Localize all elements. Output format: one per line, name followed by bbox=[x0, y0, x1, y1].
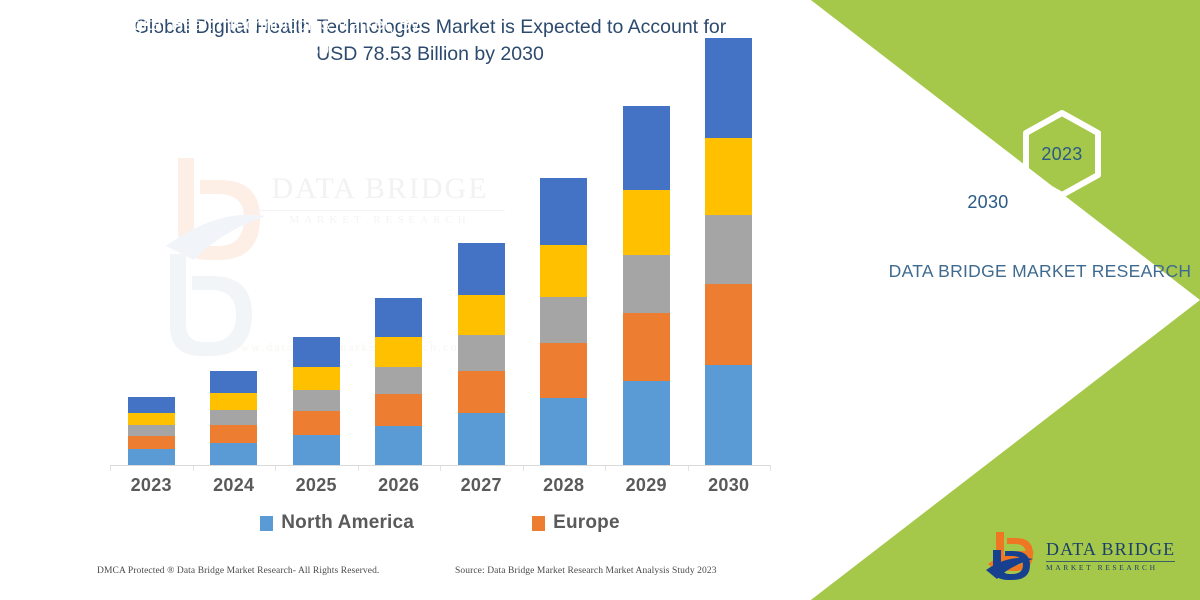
x-tick-label-2029: 2029 bbox=[605, 475, 687, 496]
legend-swatch-icon bbox=[532, 516, 545, 531]
panel-brand-text: DATA BRIDGE MARKET RESEARCH bbox=[880, 258, 1200, 285]
stacked-bar bbox=[705, 38, 752, 465]
bar-segment-north-america bbox=[623, 381, 670, 465]
bar-segment-north-america bbox=[375, 426, 422, 465]
stacked-bar bbox=[540, 178, 587, 465]
logo-line2: MARKET RESEARCH bbox=[1046, 564, 1175, 572]
bar-segment-north-america bbox=[128, 449, 175, 465]
bar-segment-north-america bbox=[293, 435, 340, 465]
bar-segment-middle-east-and-africa bbox=[128, 397, 175, 413]
chart-legend: North AmericaEurope bbox=[110, 512, 770, 534]
footer-copyright: DMCA Protected ® Data Bridge Market Rese… bbox=[97, 566, 379, 576]
bar-segment-north-america bbox=[458, 413, 505, 465]
bar-segment-middle-east-and-africa bbox=[293, 337, 340, 367]
green-side-panel bbox=[770, 0, 1200, 600]
bar-segment-europe bbox=[210, 425, 257, 443]
bar-segment-asia-pacific bbox=[210, 410, 257, 425]
legend-swatch-icon bbox=[260, 516, 273, 531]
x-tick-label-2023: 2023 bbox=[110, 475, 192, 496]
bar-segment-europe bbox=[705, 284, 752, 365]
bar-segment-north-america bbox=[540, 398, 587, 465]
bar-segment-middle-east-and-africa bbox=[375, 298, 422, 337]
databridge-logo: DATA BRIDGE MARKET RESEARCH bbox=[985, 530, 1175, 582]
stacked-bar bbox=[458, 243, 505, 465]
x-tick-label-2026: 2026 bbox=[358, 475, 440, 496]
x-tick-label-2027: 2027 bbox=[440, 475, 522, 496]
bar-segment-asia-pacific bbox=[705, 215, 752, 284]
legend-item-europe[interactable]: Europe bbox=[532, 512, 620, 534]
legend-item-north-america[interactable]: North America bbox=[260, 512, 414, 534]
infographic-canvas: DATA BRIDGE MARKET RESEARCH www.databrid… bbox=[0, 0, 1200, 600]
x-tick-label-2030: 2030 bbox=[688, 475, 770, 496]
stacked-bar bbox=[293, 337, 340, 465]
logo-b-icon bbox=[985, 530, 1037, 582]
hexagon-badge-2030: 2030 bbox=[940, 152, 1036, 252]
hexagon-label-2030: 2030 bbox=[967, 192, 1008, 213]
bar-segment-south-america bbox=[128, 413, 175, 425]
legend-label: Europe bbox=[553, 512, 620, 534]
bar-group-2027 bbox=[440, 140, 522, 465]
bar-segment-asia-pacific bbox=[293, 390, 340, 411]
bar-segment-south-america bbox=[458, 295, 505, 335]
bar-segment-europe bbox=[293, 411, 340, 435]
legend-label: North America bbox=[281, 512, 414, 534]
bar-segment-asia-pacific bbox=[540, 297, 587, 343]
bar-group-2026 bbox=[358, 140, 440, 465]
bar-group-2028 bbox=[523, 140, 605, 465]
x-tick-label-2024: 2024 bbox=[193, 475, 275, 496]
bar-segment-middle-east-and-africa bbox=[540, 178, 587, 245]
bar-segment-asia-pacific bbox=[375, 367, 422, 394]
footer-source: Source: Data Bridge Market Research Mark… bbox=[455, 566, 717, 576]
bar-segment-north-america bbox=[210, 443, 257, 465]
bar-segment-europe bbox=[623, 313, 670, 381]
bar-group-2030 bbox=[688, 140, 770, 465]
bar-group-2025 bbox=[275, 140, 357, 465]
databridge-logo-mark-icon bbox=[985, 530, 1037, 582]
logo-rule bbox=[1046, 561, 1175, 562]
bar-segment-middle-east-and-africa bbox=[210, 371, 257, 393]
bar-segment-europe bbox=[375, 394, 422, 426]
bar-segment-south-america bbox=[540, 245, 587, 297]
bar-segment-south-america bbox=[375, 337, 422, 367]
bar-segment-middle-east-and-africa bbox=[623, 106, 670, 190]
stacked-bar bbox=[623, 106, 670, 465]
bar-segment-south-america bbox=[293, 367, 340, 390]
bar-segment-middle-east-and-africa bbox=[458, 243, 505, 295]
x-axis-line bbox=[110, 465, 770, 466]
bar-segment-europe bbox=[540, 343, 587, 398]
bar-segment-asia-pacific bbox=[128, 425, 175, 436]
bar-segment-south-america bbox=[210, 393, 257, 410]
bar-segment-asia-pacific bbox=[458, 335, 505, 371]
bar-group-2023 bbox=[110, 140, 192, 465]
axis-tick bbox=[770, 465, 771, 471]
bar-segment-north-america bbox=[705, 365, 752, 465]
stacked-bar-chart bbox=[110, 140, 770, 470]
databridge-logo-text: DATA BRIDGE MARKET RESEARCH bbox=[1046, 540, 1175, 572]
stacked-bar bbox=[375, 298, 422, 465]
bar-segment-south-america bbox=[623, 190, 670, 255]
x-axis-labels: 20232024202520262027202820292030 bbox=[110, 475, 770, 496]
logo-line1: DATA BRIDGE bbox=[1046, 540, 1175, 558]
chart-plot-area bbox=[110, 140, 770, 465]
x-tick-label-2028: 2028 bbox=[523, 475, 605, 496]
hexagon-label-2023: 2023 bbox=[1041, 144, 1082, 165]
stacked-bar bbox=[210, 371, 257, 465]
bar-group-2029 bbox=[605, 140, 687, 465]
bar-segment-europe bbox=[128, 436, 175, 449]
bar-segment-south-america bbox=[705, 138, 752, 215]
bar-segment-europe bbox=[458, 371, 505, 413]
bar-segment-asia-pacific bbox=[623, 255, 670, 313]
stacked-bar bbox=[128, 397, 175, 465]
bar-group-2024 bbox=[193, 140, 275, 465]
x-tick-label-2025: 2025 bbox=[275, 475, 357, 496]
panel-title: Global Digital Health Technologies Marke… bbox=[60, 12, 420, 62]
